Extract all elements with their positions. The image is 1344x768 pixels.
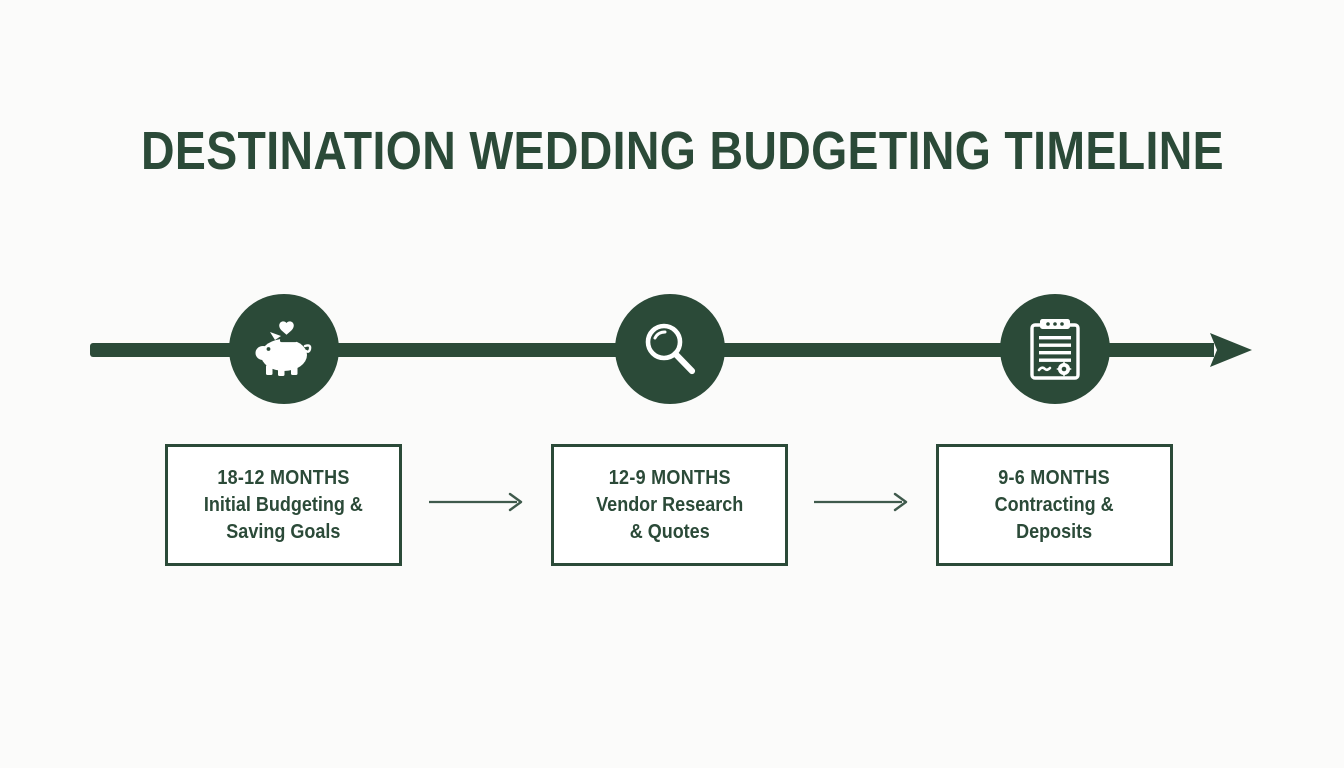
stage-1-description-line1: Initial Budgeting & (204, 492, 363, 519)
stage-connector-1 (425, 487, 535, 517)
stage-card-2[interactable]: 12-9 MONTHS Vendor Research & Quotes (551, 444, 788, 566)
milestone-node-3[interactable] (1000, 294, 1110, 404)
piggy-bank-icon (253, 320, 315, 378)
stage-card-3[interactable]: 9-6 MONTHS Contracting & Deposits (936, 444, 1173, 566)
stage-2-description-line2: & Quotes (596, 519, 743, 546)
arrow-right-icon (425, 487, 535, 517)
page-title: DESTINATION WEDDING BUDGETING TIMELINE (141, 121, 1224, 181)
stage-3-period: 9-6 MONTHS (999, 464, 1111, 492)
stage-3-description: Contracting & Deposits (995, 492, 1114, 546)
magnifying-glass-icon (640, 319, 700, 379)
stage-2-description-line1: Vendor Research (596, 492, 743, 519)
milestone-node-1[interactable] (229, 294, 339, 404)
axis-arrowhead-icon (1210, 333, 1252, 367)
stage-3-description-line2: Deposits (995, 519, 1114, 546)
stage-2-description: Vendor Research & Quotes (596, 492, 743, 546)
arrow-right-icon (810, 487, 920, 517)
stage-1-description-line2: Saving Goals (204, 519, 363, 546)
axis-segment-1-2 (320, 343, 640, 357)
milestone-node-2[interactable] (615, 294, 725, 404)
stage-1-period: 18-12 MONTHS (217, 464, 349, 492)
stage-3-description-line1: Contracting & (995, 492, 1114, 519)
axis-segment-2-3 (705, 343, 1025, 357)
contract-document-icon (1028, 318, 1082, 380)
stage-1-description: Initial Budgeting & Saving Goals (204, 492, 363, 546)
stage-card-1[interactable]: 18-12 MONTHS Initial Budgeting & Saving … (165, 444, 402, 566)
stage-2-period: 12-9 MONTHS (608, 464, 730, 492)
stage-connector-2 (810, 487, 920, 517)
axis-segment-start (90, 343, 250, 357)
